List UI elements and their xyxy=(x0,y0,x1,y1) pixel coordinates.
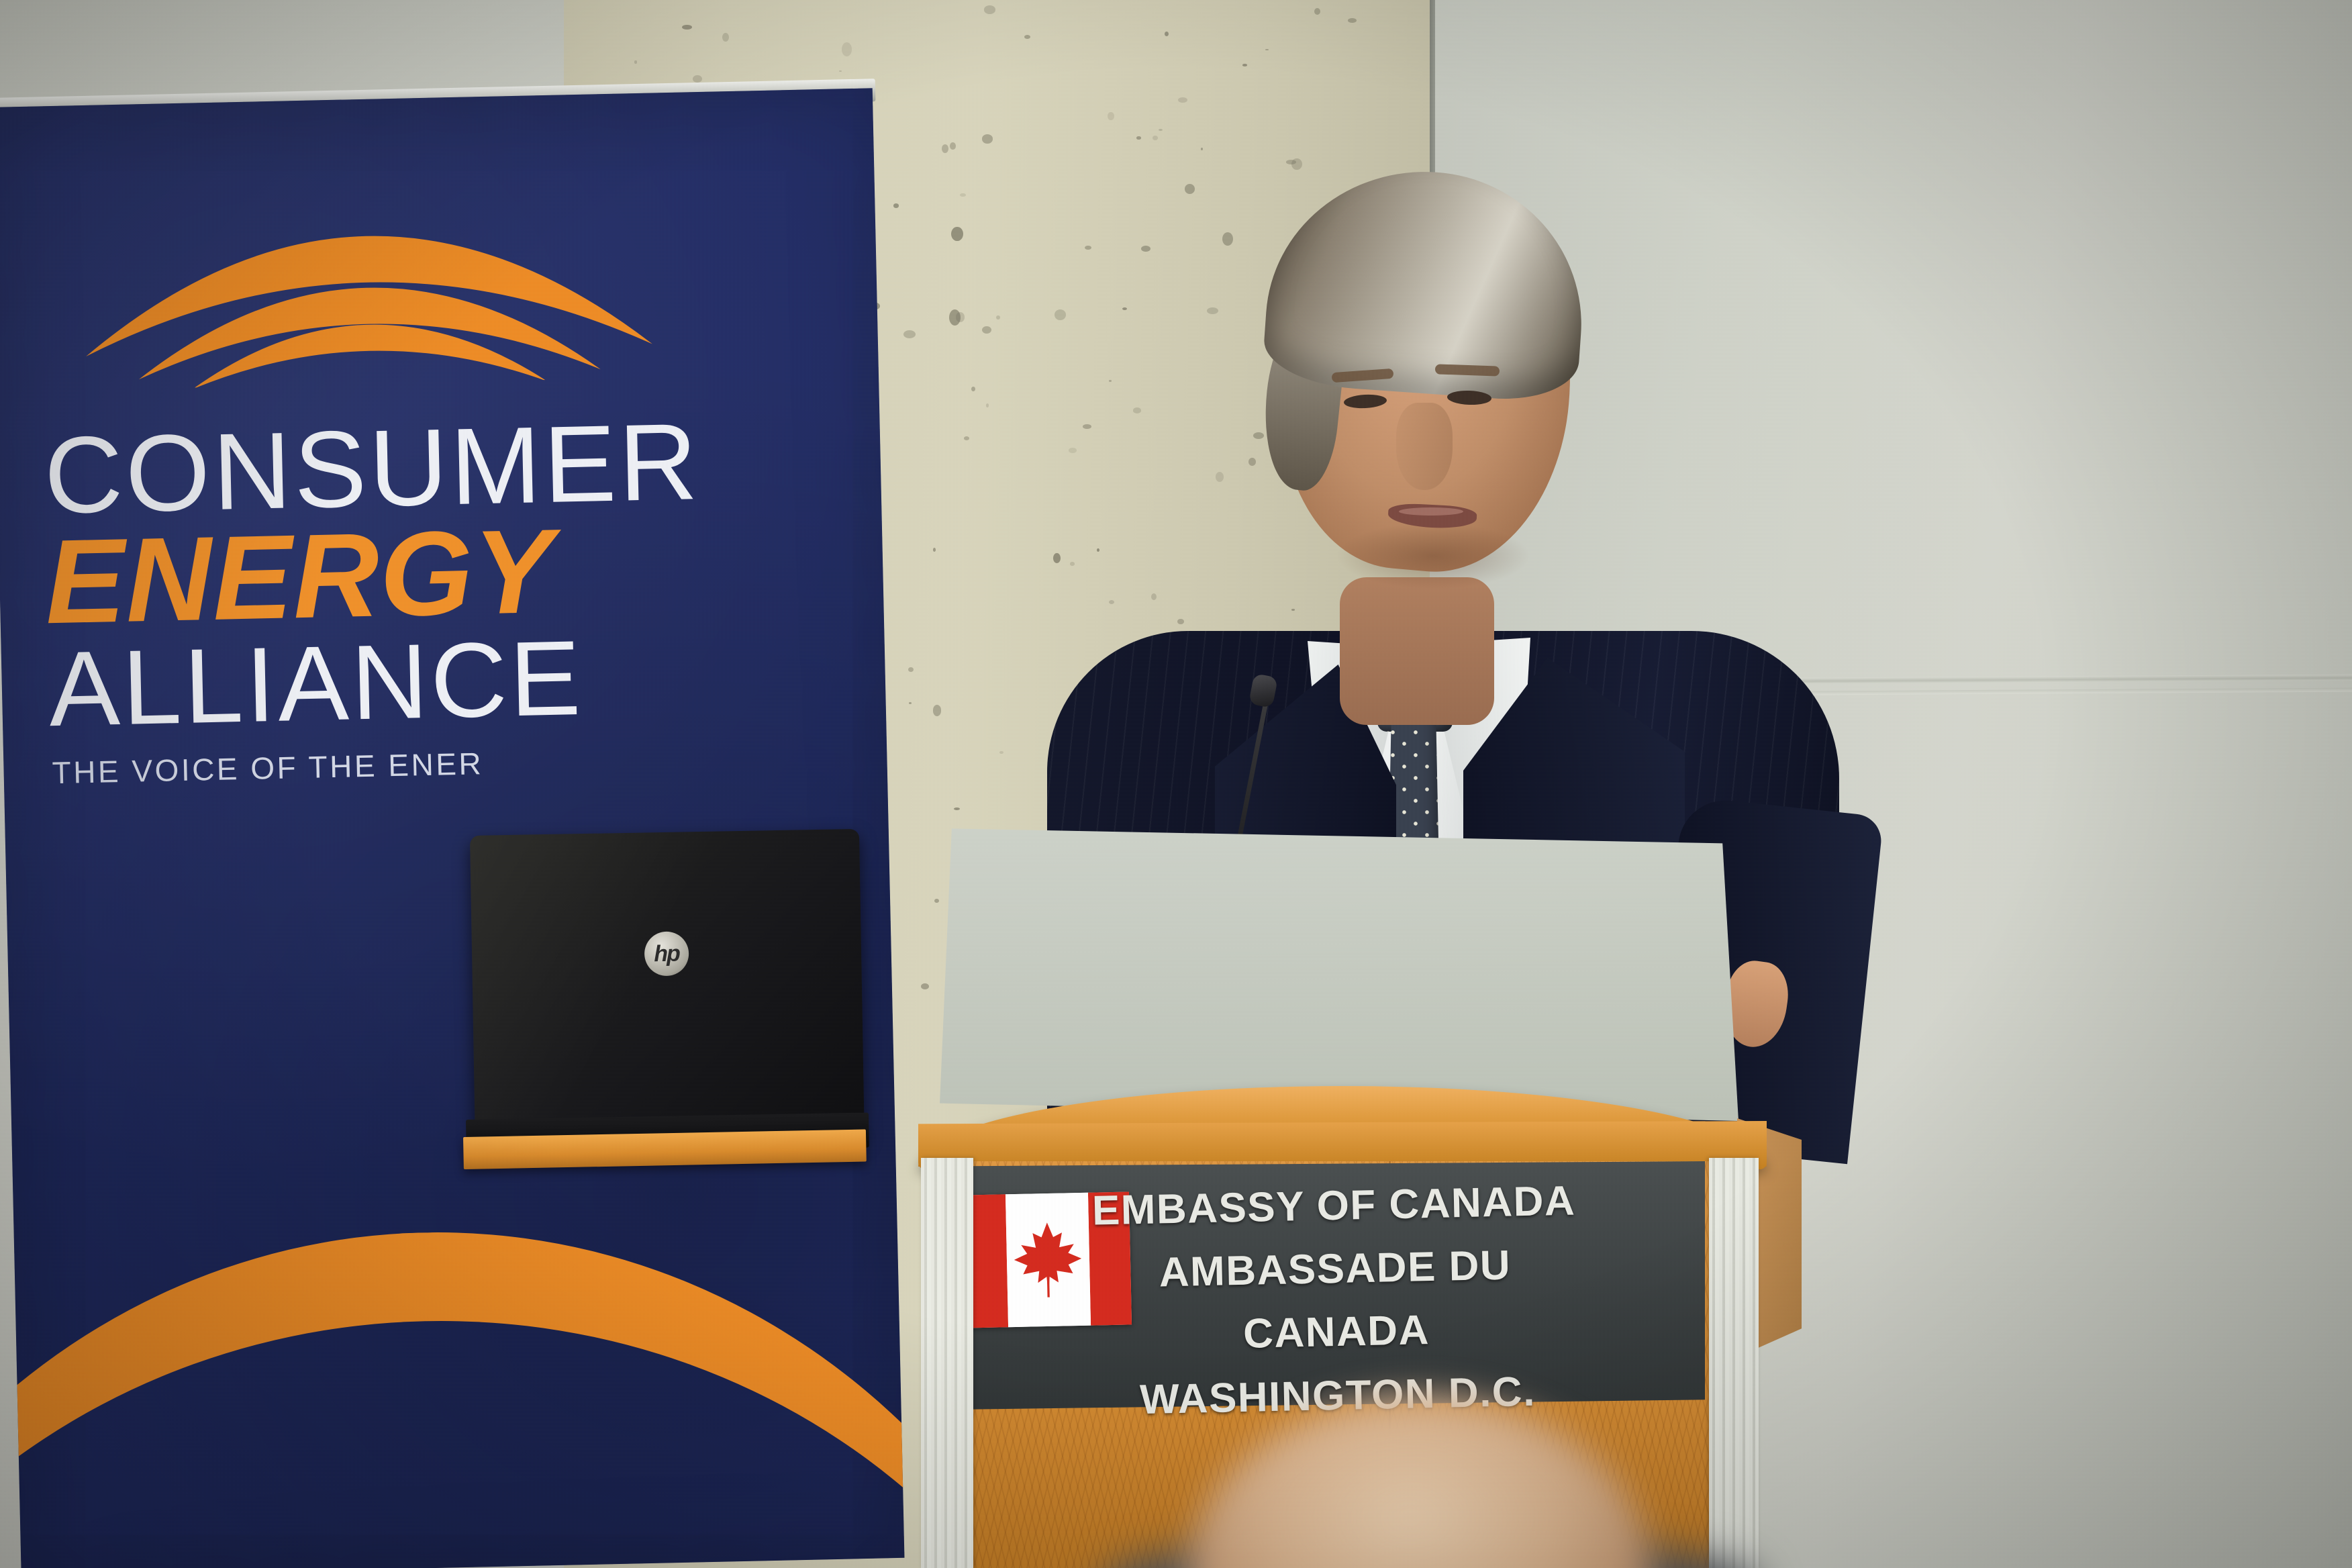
embassy-plate-text: EMBASSY OF CANADA AMBASSADE DU CANADA WA… xyxy=(1078,1169,1594,1433)
column-speckle xyxy=(908,667,914,672)
column-speckle xyxy=(909,702,912,704)
column-speckle xyxy=(1108,112,1114,120)
column-speckle xyxy=(933,548,936,552)
column-speckle xyxy=(984,5,995,13)
column-speckle xyxy=(964,436,969,440)
column-speckle xyxy=(950,142,956,150)
column-speckle xyxy=(951,227,963,242)
column-speckle xyxy=(722,33,729,42)
maple-leaf-icon xyxy=(1010,1219,1085,1301)
photo-scene: CONSUMER ENERGY ALLIANCE THE VOICE OF TH… xyxy=(0,0,2352,1568)
podium-pilaster-right xyxy=(1709,1158,1759,1568)
column-speckle xyxy=(1348,18,1357,23)
column-speckle xyxy=(954,807,960,810)
plate-line-2: AMBASSADE DU CANADA xyxy=(1079,1232,1592,1369)
chin-shadow xyxy=(1336,522,1530,589)
column-speckle xyxy=(933,705,942,716)
column-speckle xyxy=(1136,136,1140,140)
mouth-highlight xyxy=(1399,507,1463,516)
podium-pilaster-left xyxy=(921,1158,973,1568)
column-speckle xyxy=(893,203,899,207)
column-speckle xyxy=(1178,97,1187,103)
flag-center-white xyxy=(1005,1193,1090,1328)
plate-line-1: EMBASSY OF CANADA xyxy=(1078,1169,1589,1243)
column-speckle xyxy=(956,312,965,322)
column-speckle xyxy=(1265,49,1268,51)
column-speckle xyxy=(982,326,991,334)
column-speckle xyxy=(693,75,702,83)
column-speckle xyxy=(986,403,989,407)
column-speckle xyxy=(960,193,966,197)
column-speckle xyxy=(982,134,993,143)
column-speckle xyxy=(996,315,1000,320)
column-speckle xyxy=(842,42,852,56)
column-speckle xyxy=(903,330,916,338)
podium-top-surface xyxy=(940,826,1738,1121)
neck xyxy=(1340,577,1494,725)
banner-line-alliance: ALLIANCE xyxy=(48,625,584,742)
column-speckle xyxy=(1201,148,1204,150)
column-speckle xyxy=(634,60,636,63)
column-speckle xyxy=(682,25,692,30)
column-speckle xyxy=(1153,136,1158,140)
column-speckle xyxy=(971,387,975,391)
column-speckle xyxy=(999,751,1003,754)
column-speckle xyxy=(1185,184,1195,194)
nose xyxy=(1396,403,1453,490)
column-speckle xyxy=(1242,64,1248,66)
column-speckle xyxy=(1314,8,1320,15)
column-speckle xyxy=(1291,158,1302,170)
column-speckle xyxy=(1165,32,1169,36)
column-speckle xyxy=(1024,35,1030,39)
column-speckle xyxy=(942,144,949,153)
consumer-energy-alliance-banner: CONSUMER ENERGY ALLIANCE THE VOICE OF TH… xyxy=(0,88,904,1568)
cea-arcs-logo xyxy=(70,142,665,390)
column-speckle xyxy=(1159,129,1163,131)
column-speckle xyxy=(839,70,841,72)
